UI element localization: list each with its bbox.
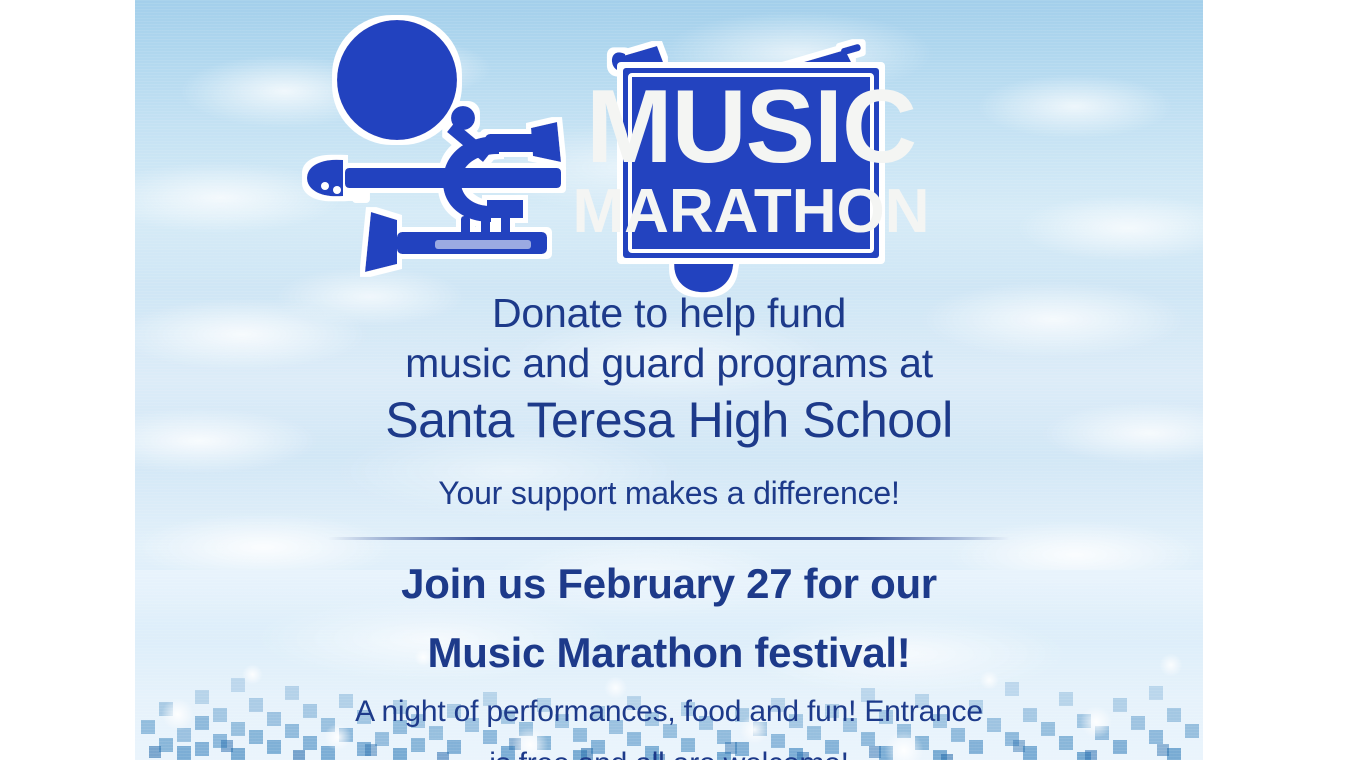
details-line-2: is free and all are welcome! [135, 745, 1203, 760]
music-marathon-logo: MUSIC MARATHON [285, 10, 925, 288]
event-line-1: Join us February 27 for our [135, 559, 1203, 609]
poster-copy: Donate to help fund music and guard prog… [135, 288, 1203, 760]
event-line-2: Music Marathon festival! [135, 628, 1203, 678]
section-divider [328, 537, 1010, 540]
headline-line-1: Donate to help fund [135, 288, 1203, 338]
school-name: Santa Teresa High School [135, 390, 1203, 450]
music-marathon-poster: MUSIC MARATHON Donate to help fund music… [135, 0, 1203, 760]
headline-line-2: music and guard programs at [135, 338, 1203, 388]
logo-svg: MUSIC MARATHON [285, 10, 925, 288]
drum-icon [337, 20, 491, 162]
details-line-1: A night of performances, food and fun! E… [135, 693, 1203, 730]
logo-word-primary: MUSIC [586, 69, 916, 185]
guitar-icon [307, 160, 561, 198]
support-line: Your support makes a difference! [135, 472, 1203, 514]
poster-stage: MUSIC MARATHON Donate to help fund music… [0, 0, 1351, 760]
logo-word-secondary: MARATHON [572, 177, 929, 246]
trumpet-icon [365, 212, 547, 272]
